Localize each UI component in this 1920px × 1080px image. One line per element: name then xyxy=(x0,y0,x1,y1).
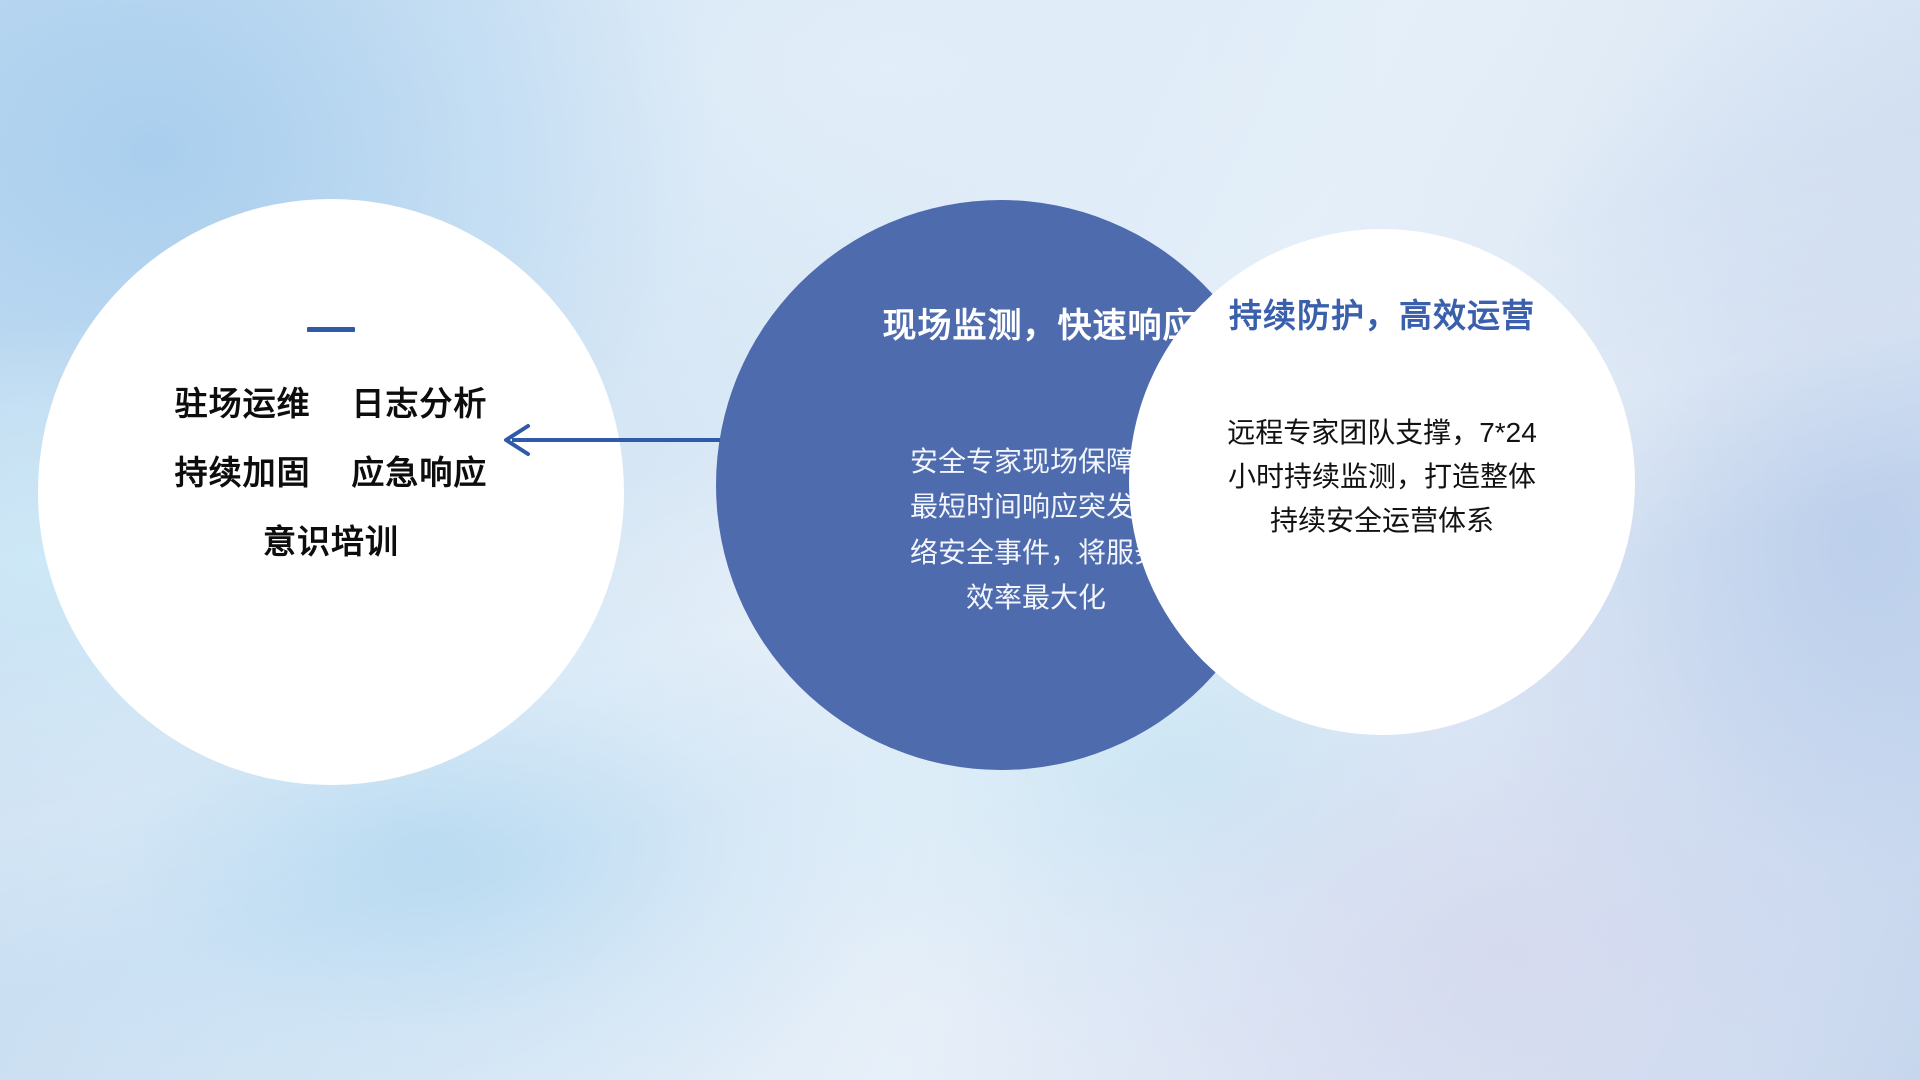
right-body-line: 持续安全运营体系 xyxy=(1184,499,1580,543)
tag-row: 意识培训 xyxy=(38,525,624,558)
right-circle-continuous-protection[interactable]: 持续防护，高效运营 远程专家团队支撑，7*24 小时持续监测，打造整体 持续安全… xyxy=(1129,229,1635,735)
right-circle-body: 远程专家团队支撑，7*24 小时持续监测，打造整体 持续安全运营体系 xyxy=(1184,411,1580,544)
right-body-line: 远程专家团队支撑，7*24 xyxy=(1184,411,1580,455)
three-circle-diagram: 现场监测，快速响应 安全专家现场保障， 最短时间响应突发网 络安全事件，将服务 … xyxy=(0,0,1920,1080)
right-body-line: 小时持续监测，打造整体 xyxy=(1184,455,1580,499)
tag-row: 驻场运维 日志分析 xyxy=(38,387,624,420)
short-dash-divider xyxy=(307,327,355,332)
arrow-left-icon xyxy=(490,418,720,462)
left-circle-service-tags[interactable]: 驻场运维 日志分析 持续加固 应急响应 意识培训 xyxy=(38,199,624,785)
connector-arrow-left xyxy=(490,418,720,462)
middle-circle-body: 安全专家现场保障， 最短时间响应突发网 络安全事件，将服务 效率最大化 xyxy=(829,439,1173,620)
right-circle-content: 持续防护，高效运营 远程专家团队支撑，7*24 小时持续监测，打造整体 持续安全… xyxy=(1129,289,1635,544)
middle-body-line: 效率最大化 xyxy=(899,575,1173,620)
right-circle-title: 持续防护，高效运营 xyxy=(1129,289,1635,337)
